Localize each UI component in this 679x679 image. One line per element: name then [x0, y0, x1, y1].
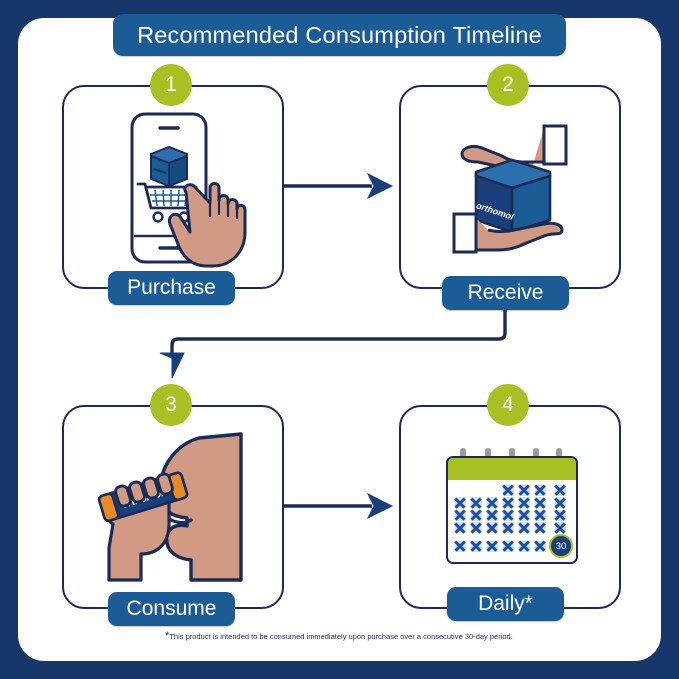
step-badge-3: 3	[150, 384, 192, 426]
calendar-cell-x	[535, 541, 546, 552]
step-label-consume[interactable]: Consume	[108, 592, 235, 626]
calendar-cell-x	[503, 510, 514, 521]
calendar-cell-x	[455, 522, 466, 533]
calendar-header	[448, 458, 576, 480]
calendar-cell-x	[471, 541, 482, 552]
calendar-body: 30	[446, 456, 578, 564]
calendar-cell-x	[471, 497, 482, 508]
calendar-cell-empty	[455, 485, 466, 496]
calendar-cell-x	[555, 522, 566, 533]
calendar-cell-empty	[487, 485, 498, 496]
step-label-daily[interactable]: Daily*	[447, 587, 564, 621]
hands-holding-box-icon: orthomol	[440, 120, 580, 260]
calendar-cell-x	[519, 541, 530, 552]
calendar-cell-x	[503, 522, 514, 533]
calendar-cell-x	[455, 497, 466, 508]
calendar-cell-x	[519, 522, 530, 533]
calendar-cell-x	[503, 541, 514, 552]
calendar-cell-x	[519, 510, 530, 521]
calendar-cell-x	[535, 485, 546, 496]
smartphone-shopping-cart-icon	[118, 108, 258, 273]
page-title: Recommended Consumption Timeline	[113, 14, 566, 56]
calendar-cell-x	[535, 510, 546, 521]
calendar-cell-x	[555, 485, 566, 496]
step-label-purchase[interactable]: Purchase	[108, 271, 235, 305]
calendar-cell-x	[519, 485, 530, 496]
footnote-text: This product is intended to be consumed …	[169, 632, 512, 641]
calendar-day-30-badge: 30	[549, 534, 573, 558]
calendar-cell-x	[471, 510, 482, 521]
calendar-cell-x	[471, 522, 482, 533]
calendar-cell-x	[455, 541, 466, 552]
calendar-cell-x	[503, 485, 514, 496]
infographic-root: Recommended Consumption Timeline	[0, 0, 679, 679]
step-badge-1: 1	[150, 64, 192, 106]
calendar-cell-x	[503, 497, 514, 508]
calendar-cell-x	[455, 510, 466, 521]
calendar-cell-x	[535, 522, 546, 533]
calendar-cell-x	[555, 510, 566, 521]
step-badge-4: 4	[487, 384, 529, 426]
calendar-cell-empty	[471, 485, 482, 496]
step-label-receive[interactable]: Receive	[442, 276, 569, 310]
footnote: *This product is intended to be consumed…	[165, 632, 565, 641]
calendar-cell-x	[487, 510, 498, 521]
calendar-cell-x	[535, 497, 546, 508]
calendar-cell-x	[487, 541, 498, 552]
calendar-cell-x	[487, 522, 498, 533]
step-badge-2: 2	[487, 64, 529, 106]
calendar-cell-x	[487, 497, 498, 508]
hand-drinking-bottle-icon: orthomol	[95, 428, 255, 588]
calendar-grid: 30	[452, 484, 572, 558]
calendar-icon: 30	[446, 448, 574, 560]
calendar-cell-x	[555, 497, 566, 508]
calendar-cell-x	[519, 497, 530, 508]
